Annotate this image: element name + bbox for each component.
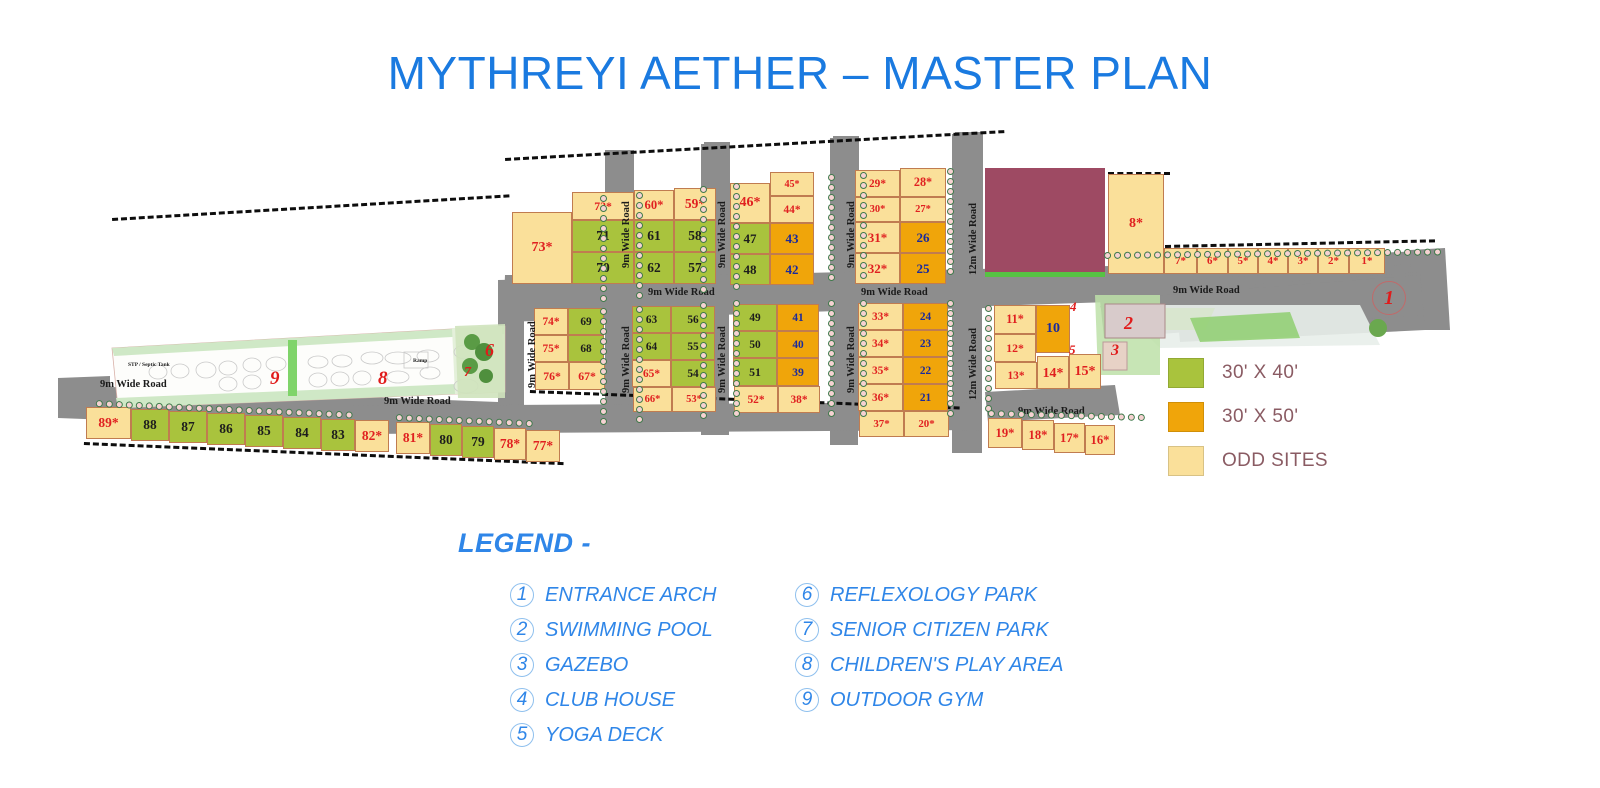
site-size-key: 30' X 40'30' X 50'ODD SITES — [1168, 358, 1328, 476]
tree-dot — [636, 416, 643, 423]
key-swatch-green — [1168, 358, 1204, 388]
tree-dot — [506, 419, 513, 426]
key-row-orange: 30' X 50' — [1168, 402, 1328, 432]
tree-dot — [636, 242, 643, 249]
tree-dot — [600, 398, 607, 405]
tree-dot — [600, 418, 607, 425]
legend-column-left: 1ENTRANCE ARCH2SWIMMING POOL3GAZEBO4CLUB… — [510, 583, 795, 747]
tree-dot — [700, 196, 707, 203]
plot-69[interactable]: 69 — [568, 308, 604, 335]
tree-dot — [126, 401, 133, 408]
tree-dot — [828, 330, 835, 337]
tree-dot — [636, 366, 643, 373]
key-label: 30' X 50' — [1222, 406, 1298, 428]
tree-dot — [733, 310, 740, 317]
tree-dot — [106, 400, 113, 407]
plot-53a[interactable]: 53* — [672, 387, 716, 412]
tree-dot — [1394, 249, 1401, 256]
amenity-marker-3[interactable]: 3 — [1111, 342, 1119, 360]
plot-13a[interactable]: 13* — [995, 362, 1037, 389]
plot-19a[interactable]: 19* — [988, 418, 1022, 448]
tree-dot-col — [860, 172, 867, 279]
plot-83[interactable]: 83 — [321, 419, 355, 451]
tree-dot — [947, 400, 954, 407]
tree-dot — [1108, 413, 1115, 420]
tree-dot-col — [828, 174, 835, 281]
tree-dot-col — [636, 192, 643, 299]
plot-43[interactable]: 43 — [770, 223, 814, 254]
tree-dot — [860, 370, 867, 377]
tree-dot — [947, 410, 954, 417]
tree-dot — [526, 420, 533, 427]
tree-dot — [988, 410, 995, 417]
road-label-vertical: 9m Wide Road — [621, 201, 632, 268]
tree-dot — [860, 212, 867, 219]
tree-dot — [636, 272, 643, 279]
plot-55[interactable]: 55 — [671, 333, 715, 360]
tree-dot — [600, 408, 607, 415]
tree-dot — [636, 262, 643, 269]
tree-dot — [985, 375, 992, 382]
tree-dot — [600, 195, 607, 202]
tree-dot — [1128, 414, 1135, 421]
tree-dot — [985, 305, 992, 312]
tree-dot — [636, 346, 643, 353]
road-label-vertical: 12m Wide Road — [968, 328, 979, 400]
plot-18a[interactable]: 18* — [1022, 420, 1054, 450]
plot-15a[interactable]: 15* — [1069, 354, 1101, 389]
tree-dot — [828, 224, 835, 231]
legend-item-number: 6 — [795, 583, 819, 607]
tree-dot — [1138, 414, 1145, 421]
tree-dot — [947, 238, 954, 245]
legend-item-label: REFLEXOLOGY PARK — [830, 584, 1037, 607]
plot-78a[interactable]: 78* — [494, 428, 526, 460]
tree-dot — [733, 350, 740, 357]
amenity-marker-5[interactable]: 5 — [1069, 342, 1076, 358]
legend-item-2: 2SWIMMING POOL — [510, 618, 795, 642]
tree-dot — [1324, 250, 1331, 257]
tree-dot — [1424, 249, 1431, 256]
plot-59a[interactable]: 59* — [674, 188, 716, 220]
tree-dot — [700, 372, 707, 379]
plot-20a[interactable]: 20* — [904, 411, 949, 437]
tree-dot-col — [700, 186, 707, 293]
plot-45a[interactable]: 45* — [770, 172, 814, 196]
tree-dot — [700, 236, 707, 243]
tree-dot — [1414, 249, 1421, 256]
tree-dot — [636, 306, 643, 313]
tree-dot — [516, 419, 523, 426]
tree-dot — [636, 376, 643, 383]
tree-dot — [636, 202, 643, 209]
plot-21[interactable]: 21 — [903, 384, 948, 411]
tree-dot — [860, 400, 867, 407]
tree-dot — [600, 378, 607, 385]
plot-57[interactable]: 57 — [674, 252, 716, 284]
tree-dot — [426, 415, 433, 422]
tree-dot-col — [860, 300, 867, 417]
tree-dot — [600, 328, 607, 335]
plot-41[interactable]: 41 — [777, 304, 819, 331]
tree-dot — [985, 365, 992, 372]
tree-dot — [305, 410, 312, 417]
plot-89a[interactable]: 89* — [86, 407, 131, 439]
tree-dot — [1048, 412, 1055, 419]
amenity-marker-4[interactable]: 4 — [1070, 299, 1077, 315]
plot-16a[interactable]: 16* — [1085, 425, 1115, 455]
tree-dot — [600, 308, 607, 315]
tree-dot — [828, 264, 835, 271]
plot-40[interactable]: 40 — [777, 331, 819, 358]
tree-dot — [335, 411, 342, 418]
tree-dot — [947, 300, 954, 307]
tree-dot — [860, 350, 867, 357]
tree-dot — [636, 316, 643, 323]
plot-84[interactable]: 84 — [283, 417, 321, 449]
tree-dot — [700, 226, 707, 233]
tree-dot — [947, 178, 954, 185]
amenity-marker-1[interactable]: 1 — [1372, 281, 1406, 315]
plot-10[interactable]: 10 — [1036, 305, 1070, 353]
tree-dot — [733, 380, 740, 387]
legend-item-label: SWIMMING POOL — [545, 619, 713, 642]
plot-52a[interactable]: 52* — [734, 386, 778, 413]
tree-dot — [345, 411, 352, 418]
tree-dot — [947, 228, 954, 235]
plot-79[interactable]: 79 — [462, 426, 494, 458]
tree-dot — [636, 252, 643, 259]
tree-dot — [700, 412, 707, 419]
misc-label: STP / Septic Tank — [128, 362, 170, 368]
legend-item-label: CLUB HOUSE — [545, 689, 675, 712]
tree-dot — [96, 400, 103, 407]
tree-dot — [985, 315, 992, 322]
tree-dot — [600, 225, 607, 232]
tree-dot — [860, 360, 867, 367]
plot-44a[interactable]: 44* — [770, 196, 814, 223]
tree-dot — [226, 406, 233, 413]
tree-dot — [406, 414, 413, 421]
road-label-vertical: 9m Wide Road — [527, 321, 538, 388]
tree-dot — [206, 405, 213, 412]
tree-dot — [985, 395, 992, 402]
amenity-marker-7[interactable]: 7 — [464, 365, 471, 381]
tree-dot — [828, 390, 835, 397]
tree-dot — [733, 410, 740, 417]
tree-dot — [947, 218, 954, 225]
amenity-marker-2[interactable]: 2 — [1124, 313, 1133, 334]
tree-dot — [860, 272, 867, 279]
tree-dot — [985, 335, 992, 342]
plot-54[interactable]: 54 — [671, 360, 715, 387]
tree-dot — [828, 184, 835, 191]
plot-87[interactable]: 87 — [169, 411, 207, 443]
legend-item-number: 9 — [795, 688, 819, 712]
tree-dot-col — [636, 306, 643, 423]
misc-label: Ramp — [413, 358, 427, 364]
legend-item-number: 1 — [510, 583, 534, 607]
tree-dot — [1314, 250, 1321, 257]
tree-dot — [256, 407, 263, 414]
tree-dot — [947, 390, 954, 397]
tree-dot — [733, 330, 740, 337]
key-swatch-light-yellow — [1168, 446, 1204, 476]
plot-38a[interactable]: 38* — [778, 386, 820, 413]
plot-8a[interactable]: 8* — [1108, 174, 1164, 274]
tree-dot — [828, 310, 835, 317]
tree-dot — [860, 242, 867, 249]
tree-dot — [1114, 252, 1121, 259]
tree-dot — [315, 410, 322, 417]
road-label-horizontal: 9m Wide Road — [1173, 285, 1240, 296]
tree-dot — [636, 336, 643, 343]
plot-85[interactable]: 85 — [245, 415, 283, 447]
tree-dot — [947, 310, 954, 317]
legend-item-label: ENTRANCE ARCH — [545, 584, 717, 607]
plot-26[interactable]: 26 — [900, 222, 946, 253]
plot-56[interactable]: 56 — [671, 306, 715, 333]
plot-86[interactable]: 86 — [207, 413, 245, 445]
tree-dot — [733, 243, 740, 250]
legend-heading: LEGEND - — [458, 528, 1218, 559]
plot-82a[interactable]: 82* — [355, 420, 389, 452]
tree-dot — [860, 340, 867, 347]
plot-68[interactable]: 68 — [568, 335, 604, 362]
tree-dot — [828, 174, 835, 181]
tree-dot — [947, 370, 954, 377]
legend-item-label: YOGA DECK — [545, 724, 663, 747]
plot-24[interactable]: 24 — [903, 303, 948, 330]
tree-dot — [636, 356, 643, 363]
legend-item-number: 2 — [510, 618, 534, 642]
tree-dot — [733, 253, 740, 260]
tree-dot — [476, 418, 483, 425]
tree-dot — [600, 255, 607, 262]
tree-dot — [985, 345, 992, 352]
tree-dot — [466, 417, 473, 424]
plot-42[interactable]: 42 — [770, 254, 814, 285]
plot-58[interactable]: 58 — [674, 220, 716, 252]
tree-dot — [860, 310, 867, 317]
tree-dot — [1214, 251, 1221, 258]
tree-dot — [733, 273, 740, 280]
legend-item-number: 5 — [510, 723, 534, 747]
plot-12a[interactable]: 12* — [994, 334, 1036, 362]
tree-dot — [947, 268, 954, 275]
plot-17a[interactable]: 17* — [1054, 423, 1085, 453]
tree-dot — [295, 409, 302, 416]
tree-dot — [860, 192, 867, 199]
tree-dot — [1098, 413, 1105, 420]
tree-dot — [416, 415, 423, 422]
tree-dot — [700, 332, 707, 339]
tree-dot — [1294, 250, 1301, 257]
tree-dot — [985, 355, 992, 362]
plot-88[interactable]: 88 — [131, 409, 169, 441]
road-label-vertical: 9m Wide Road — [621, 326, 632, 393]
tree-dot-col — [985, 305, 992, 412]
tree-dot — [176, 404, 183, 411]
tree-dot — [700, 276, 707, 283]
tree-dot — [636, 396, 643, 403]
tree-dot — [636, 192, 643, 199]
tree-dot — [275, 408, 282, 415]
tree-dot — [1334, 250, 1341, 257]
tree-dot — [733, 390, 740, 397]
tree-dot — [236, 406, 243, 413]
tree-dot — [636, 386, 643, 393]
tree-dot — [1104, 252, 1111, 259]
tree-dot — [325, 410, 332, 417]
tree-dot — [733, 223, 740, 230]
tree-dot — [860, 380, 867, 387]
plot-39[interactable]: 39 — [777, 358, 819, 386]
key-swatch-orange — [1168, 402, 1204, 432]
tree-dot — [636, 232, 643, 239]
tree-dot — [828, 400, 835, 407]
tree-dot-col — [733, 183, 740, 290]
amenity-marker-8[interactable]: 8 — [378, 368, 388, 390]
tree-dot — [196, 405, 203, 412]
plot-73a[interactable]: 73* — [512, 212, 572, 284]
tree-dot — [600, 265, 607, 272]
tree-dot — [700, 312, 707, 319]
plot-28a[interactable]: 28* — [900, 168, 946, 197]
tree-dot — [947, 168, 954, 175]
tree-dot — [947, 198, 954, 205]
tree-dot — [1078, 412, 1085, 419]
tree-dot — [1018, 411, 1025, 418]
legend-item-number: 8 — [795, 653, 819, 677]
tree-dot — [733, 320, 740, 327]
legend-item-5: 5YOGA DECK — [510, 723, 795, 747]
tree-dot — [985, 385, 992, 392]
tree-dot — [1284, 250, 1291, 257]
tree-dot — [156, 403, 163, 410]
tree-dot — [600, 368, 607, 375]
tree-dot — [1144, 252, 1151, 259]
plot-76a[interactable]: 76* — [535, 362, 569, 390]
amenity-marker-6[interactable]: 6 — [485, 340, 494, 361]
tree-dot — [1118, 413, 1125, 420]
tree-dot — [828, 244, 835, 251]
tree-dot — [733, 203, 740, 210]
tree-dot — [828, 234, 835, 241]
plot-75a[interactable]: 75* — [534, 335, 568, 362]
tree-dot-col — [947, 168, 954, 275]
tree-dot — [733, 400, 740, 407]
tree-dot — [116, 401, 123, 408]
tree-dot — [285, 409, 292, 416]
tree-dot — [636, 406, 643, 413]
tree-dot — [700, 322, 707, 329]
tree-dot — [1164, 251, 1171, 258]
plot-22[interactable]: 22 — [903, 357, 948, 384]
plot-14a[interactable]: 14* — [1037, 356, 1069, 389]
tree-dot — [860, 390, 867, 397]
tree-dot — [1264, 250, 1271, 257]
legend-item-label: CHILDREN'S PLAY AREA — [830, 654, 1064, 677]
plot-77a[interactable]: 77* — [526, 430, 560, 462]
tree-dot — [1344, 249, 1351, 256]
tree-dot — [733, 370, 740, 377]
tree-dot — [1254, 250, 1261, 257]
tree-dot — [828, 300, 835, 307]
tree-dot — [436, 416, 443, 423]
tree-dot — [733, 263, 740, 270]
plot-23[interactable]: 23 — [903, 330, 948, 357]
tree-dot — [1058, 412, 1065, 419]
tree-dot — [600, 235, 607, 242]
tree-dot — [1068, 412, 1075, 419]
tree-dot — [828, 194, 835, 201]
road-label-horizontal: 9m Wide Road — [100, 379, 167, 390]
tree-dot — [700, 392, 707, 399]
plot-11a[interactable]: 11* — [994, 305, 1036, 334]
plot-74a[interactable]: 74* — [534, 308, 568, 335]
tree-dot — [446, 416, 453, 423]
tree-dot — [860, 300, 867, 307]
tree-dot — [860, 222, 867, 229]
tree-dot — [1204, 251, 1211, 258]
master-plan-drawing: 73*72*717060*59*6158625746*45*44*4743484… — [0, 130, 1600, 510]
tree-dot — [860, 410, 867, 417]
tree-dot — [186, 404, 193, 411]
tree-dot-col — [700, 302, 707, 419]
tree-dot — [1194, 251, 1201, 258]
tree-dot — [998, 410, 1005, 417]
tree-dot — [166, 403, 173, 410]
tree-dot — [600, 295, 607, 302]
tree-dot — [947, 350, 954, 357]
tree-dot — [246, 407, 253, 414]
tree-dot — [600, 338, 607, 345]
plot-80[interactable]: 80 — [430, 424, 462, 456]
legend-item-6: 6REFLEXOLOGY PARK — [795, 583, 1064, 607]
tree-dot — [136, 402, 143, 409]
tree-dot — [1434, 248, 1441, 255]
tree-dot — [860, 172, 867, 179]
road-label-vertical: 9m Wide Road — [717, 326, 728, 393]
tree-dot — [600, 388, 607, 395]
tree-dot — [828, 370, 835, 377]
legend-column-right: 6REFLEXOLOGY PARK7SENIOR CITIZEN PARK8CH… — [795, 583, 1064, 747]
road-label-vertical: 9m Wide Road — [846, 201, 857, 268]
tree-dot — [1038, 411, 1045, 418]
tree-dot — [1244, 250, 1251, 257]
plot-25[interactable]: 25 — [900, 253, 946, 284]
key-label: 30' X 40' — [1222, 362, 1298, 384]
tree-dot — [600, 275, 607, 282]
tree-dot — [860, 232, 867, 239]
tree-dot — [860, 262, 867, 269]
plot-81a[interactable]: 81* — [396, 422, 430, 454]
tree-dot — [636, 212, 643, 219]
amenity-marker-9[interactable]: 9 — [270, 368, 280, 390]
tree-dot — [860, 320, 867, 327]
tree-dot — [828, 410, 835, 417]
clubhouse-block — [985, 168, 1105, 276]
tree-dot — [947, 208, 954, 215]
plot-27a[interactable]: 27* — [900, 197, 946, 222]
tree-dot — [828, 274, 835, 281]
legend-item-number: 7 — [795, 618, 819, 642]
tree-dot — [733, 233, 740, 240]
tree-dot — [700, 362, 707, 369]
tree-dot — [146, 402, 153, 409]
tree-dot — [947, 340, 954, 347]
